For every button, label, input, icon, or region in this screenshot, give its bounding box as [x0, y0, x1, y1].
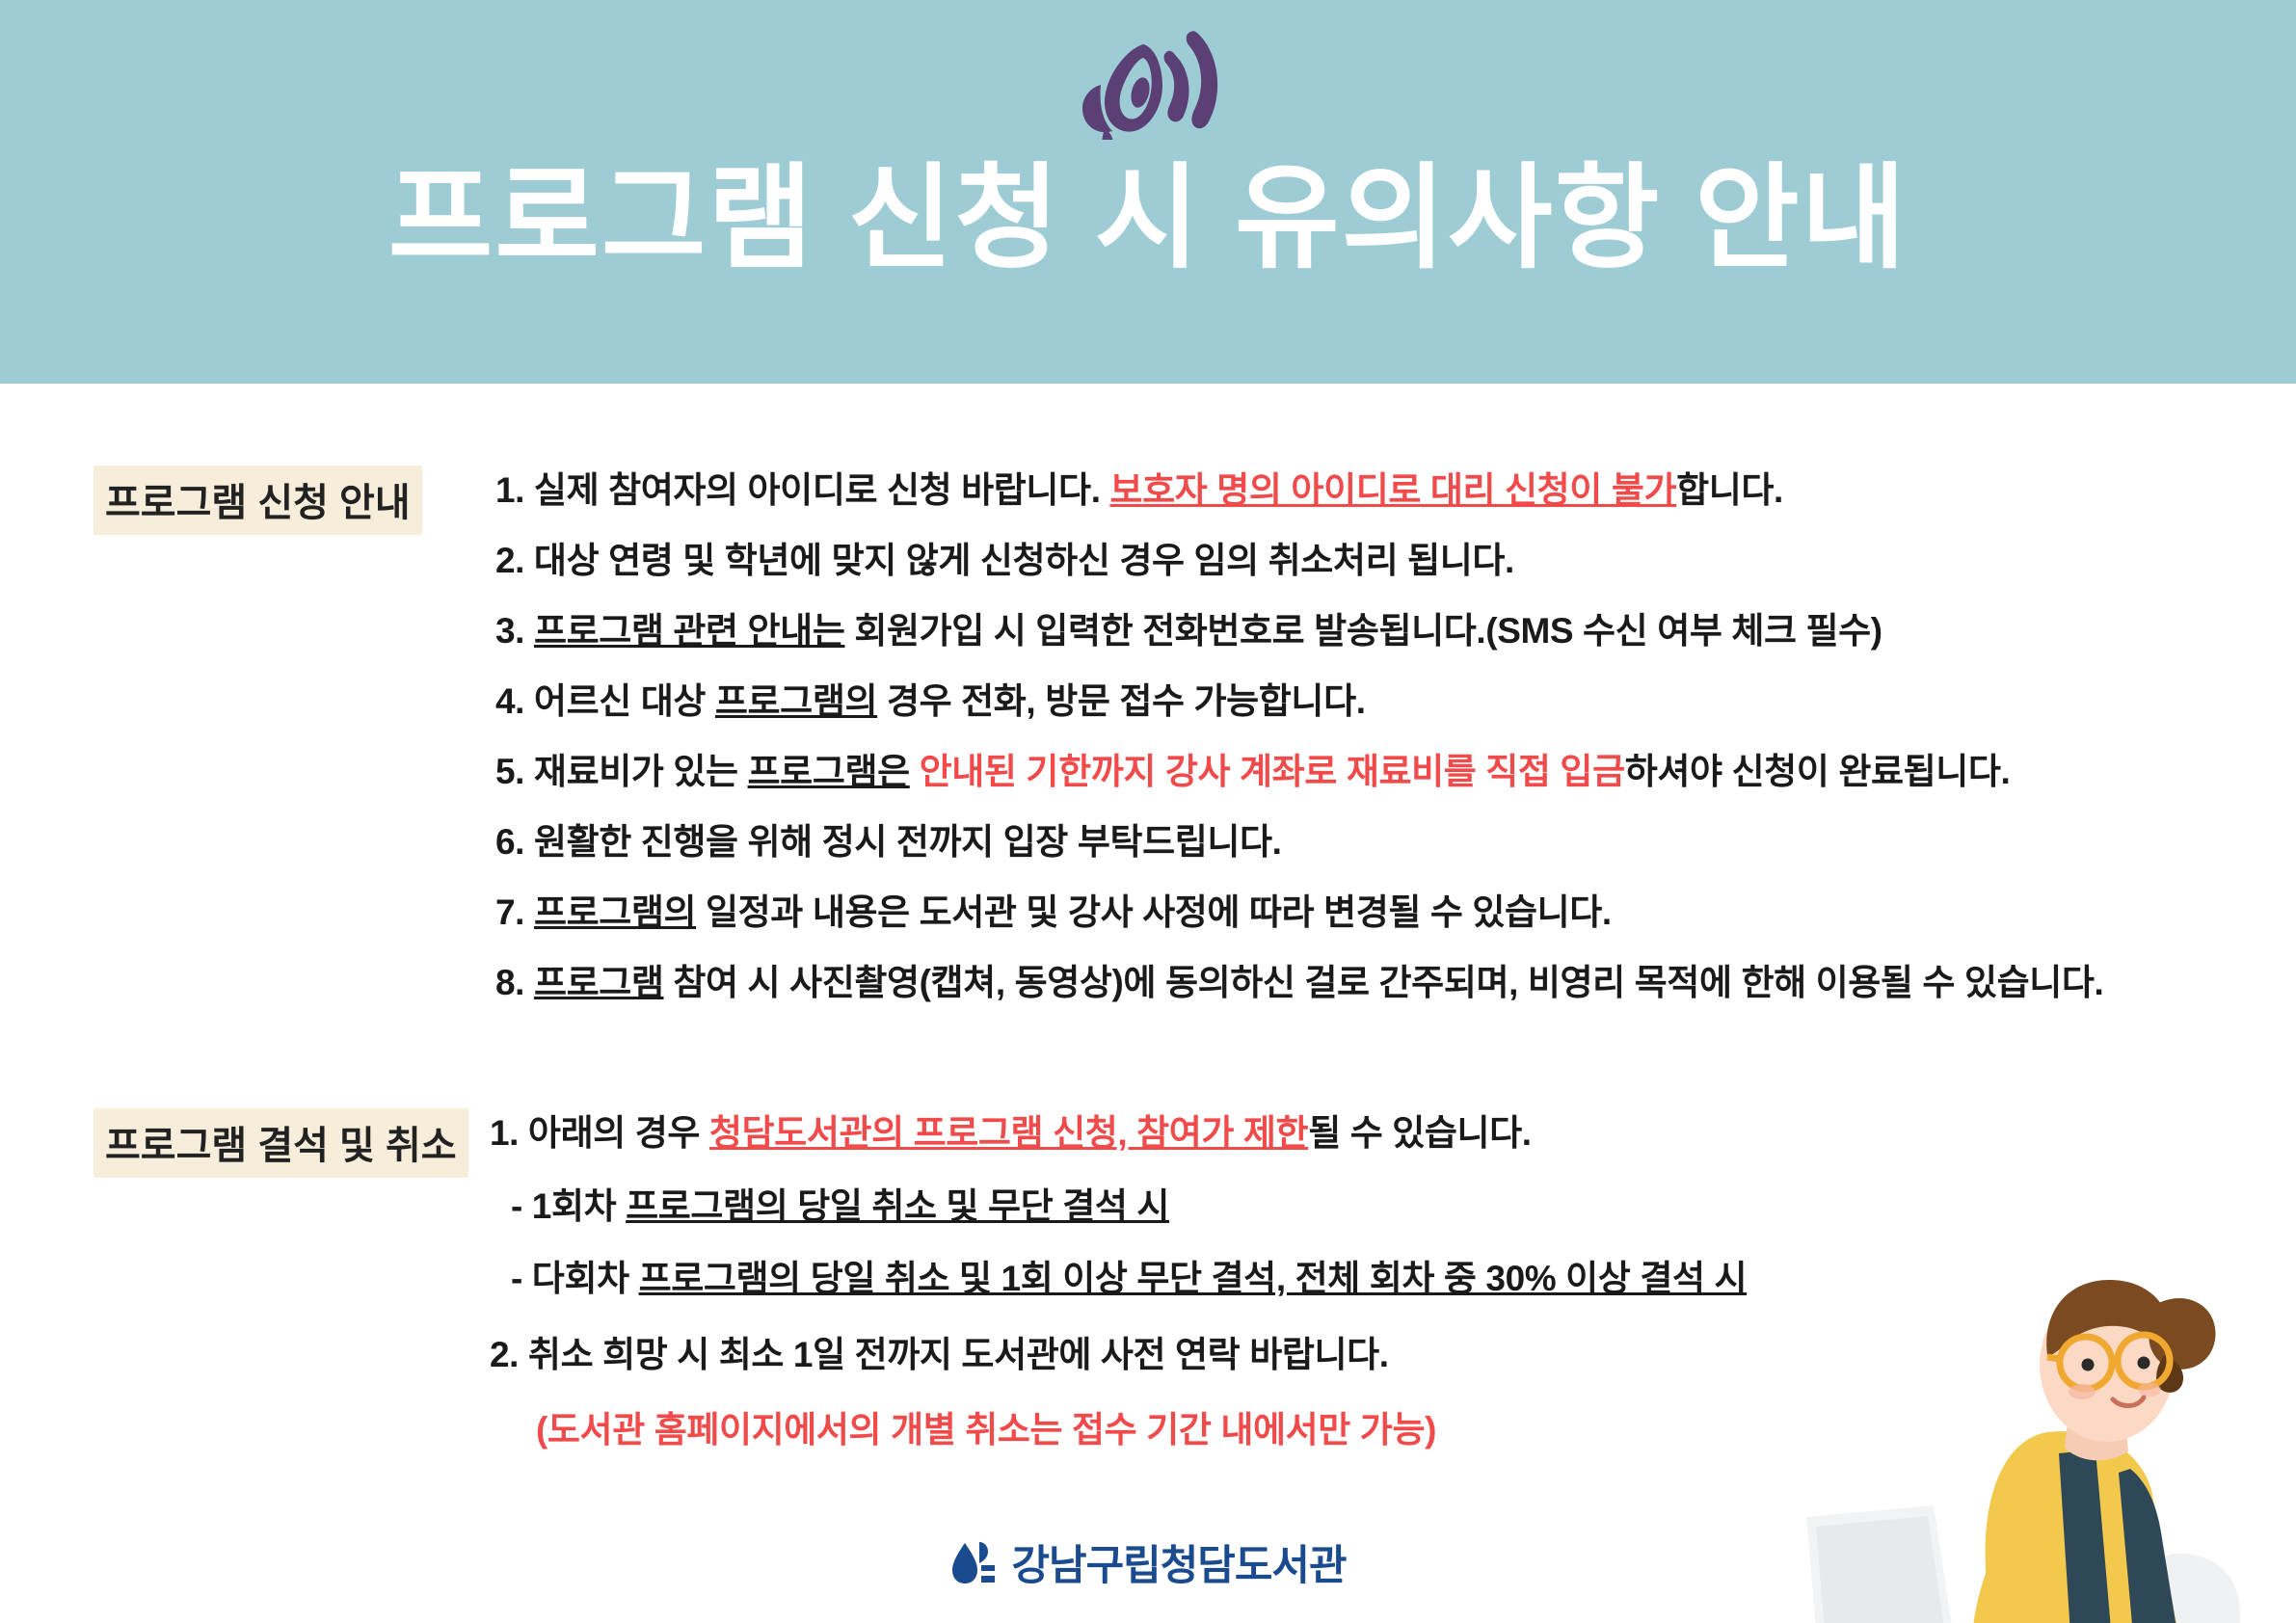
item-text: 5. 재료비가 있는 [495, 752, 748, 791]
section-label-absence-cancel: 프로그램 결석 및 취소 [93, 1108, 468, 1178]
item-text-tail: 회원가입 시 입력한 전화번호로 발송됩니다.(SMS 수신 여부 체크 필수) [844, 611, 1882, 651]
item-text: 2. 대상 연령 및 학년에 맞지 않게 신청하신 경우 임의 취소처리 됩니다… [495, 541, 1514, 580]
list-item-1-5: 5. 재료비가 있는 프로그램은 안내된 기한까지 강사 계좌로 재료비를 직접… [495, 750, 2010, 794]
item-text-underlined: 프로그램의 [715, 681, 877, 721]
item-text-tail: 참여 시 사진촬영(캡쳐, 동영상)에 동의하신 걸로 간주되며, 비영리 목적… [664, 963, 2104, 1002]
header-banner: 프로그램 신청 시 유의사항 안내 [0, 0, 2296, 384]
section-label-application: 프로그램 신청 안내 [93, 466, 422, 535]
item-text-underlined: 프로그램의 당일 취소 및 1회 이상 무단 결석, 전체 회차 중 30% 이… [639, 1259, 1748, 1298]
item-number: 7. [495, 892, 534, 932]
item-text: - 1회차 [511, 1186, 626, 1226]
item-text-underlined: 프로그램의 당일 취소 및 무단 결석 시 [626, 1186, 1169, 1226]
list-item-1-7: 7. 프로그램의 일정과 내용은 도서관 및 강사 사정에 따라 변경될 수 있… [495, 891, 1612, 935]
item-text-emphasis: 청담도서관의 프로그램 신청, 참여가 제한 [709, 1113, 1308, 1153]
item-number: 3. [495, 611, 534, 651]
item-text-emphasis: 보호자 명의 아이디로 대리 신청이 불가 [1109, 470, 1676, 510]
list-subitem-2-1b: - 다회차 프로그램의 당일 취소 및 1회 이상 무단 결석, 전체 회차 중… [511, 1257, 1747, 1301]
item-text: 2. 취소 희망 시 최소 1일 전까지 도서관에 사전 연락 바랍니다. [490, 1335, 1389, 1374]
megaphone-icon [1055, 29, 1247, 140]
list-subitem-2-1a: - 1회차 프로그램의 당일 취소 및 무단 결석 시 [511, 1184, 1169, 1229]
gangnam-library-logo-icon [949, 1539, 998, 1585]
cancel-note: (도서관 홈페이지에서의 개별 취소는 접수 기간 내에서만 가능) [536, 1408, 1436, 1452]
item-number: 8. [495, 963, 534, 1002]
item-text-tail: 경우 전화, 방문 접수 가능합니다. [877, 681, 1365, 721]
list-item-2-2: 2. 취소 희망 시 최소 1일 전까지 도서관에 사전 연락 바랍니다. [490, 1333, 1389, 1377]
footer-logo: 강남구립청담도서관 [0, 1532, 2296, 1592]
item-text-underlined: 프로그램의 [534, 892, 696, 932]
item-text-underlined: 프로그램 관련 안내는 [534, 611, 845, 651]
poster-canvas: 프로그램 신청 시 유의사항 안내 프로그램 신청 안내 1. 실제 참여자의 … [0, 0, 2296, 1623]
item-text: 1. 실제 참여자의 아이디로 신청 바랍니다. [495, 470, 1109, 510]
eye-left [2082, 1359, 2095, 1371]
list-item-2-1: 1. 아래의 경우 청담도서관의 프로그램 신청, 참여가 제한될 수 있습니다… [490, 1111, 1532, 1156]
item-text-underlined: 프로그램 [534, 963, 664, 1002]
item-text: - 다회차 [511, 1259, 639, 1298]
item-text: 1. 아래의 경우 [490, 1113, 709, 1153]
page-title: 프로그램 신청 시 유의사항 안내 [0, 154, 2296, 285]
list-item-1-1: 1. 실제 참여자의 아이디로 신청 바랍니다. 보호자 명의 아이디로 대리 … [495, 468, 1783, 513]
list-item-1-8: 8. 프로그램 참여 시 사진촬영(캡쳐, 동영상)에 동의하신 걸로 간주되며… [495, 961, 2103, 1005]
footer-library-name: 강남구립청담도서관 [1011, 1532, 1346, 1592]
item-text-tail: 하셔야 신청이 완료됩니다. [1625, 752, 2011, 791]
list-item-1-2: 2. 대상 연령 및 학년에 맞지 않게 신청하신 경우 임의 취소처리 됩니다… [495, 539, 1514, 583]
item-text: 6. 원활한 진행을 위해 정시 전까지 입장 부탁드립니다. [495, 822, 1282, 862]
note-text: (도서관 홈페이지에서의 개별 취소는 접수 기간 내에서만 가능) [536, 1410, 1436, 1450]
blush-right [2138, 1383, 2161, 1397]
hair-bun [2149, 1298, 2215, 1370]
list-item-1-3: 3. 프로그램 관련 안내는 회원가입 시 입력한 전화번호로 발송됩니다.(S… [495, 609, 1882, 653]
content-area: 프로그램 신청 안내 1. 실제 참여자의 아이디로 신청 바랍니다. 보호자 … [0, 384, 2296, 1623]
item-text: 4. 어르신 대상 [495, 681, 715, 721]
item-text-tail: 될 수 있습니다. [1308, 1113, 1531, 1153]
item-text-tail: 합니다. [1676, 470, 1783, 510]
item-text-tail: 일정과 내용은 도서관 및 강사 사정에 따라 변경될 수 있습니다. [696, 892, 1612, 932]
item-text-underlined: 프로그램은 [748, 752, 910, 791]
blush-left [2069, 1384, 2096, 1399]
item-text-emphasis: 안내된 기한까지 강사 계좌로 재료비를 직접 입금 [910, 752, 1625, 791]
eye-right [2138, 1357, 2150, 1370]
list-item-1-4: 4. 어르신 대상 프로그램의 경우 전화, 방문 접수 가능합니다. [495, 679, 1366, 724]
list-item-1-6: 6. 원활한 진행을 위해 정시 전까지 입장 부탁드립니다. [495, 820, 1282, 865]
